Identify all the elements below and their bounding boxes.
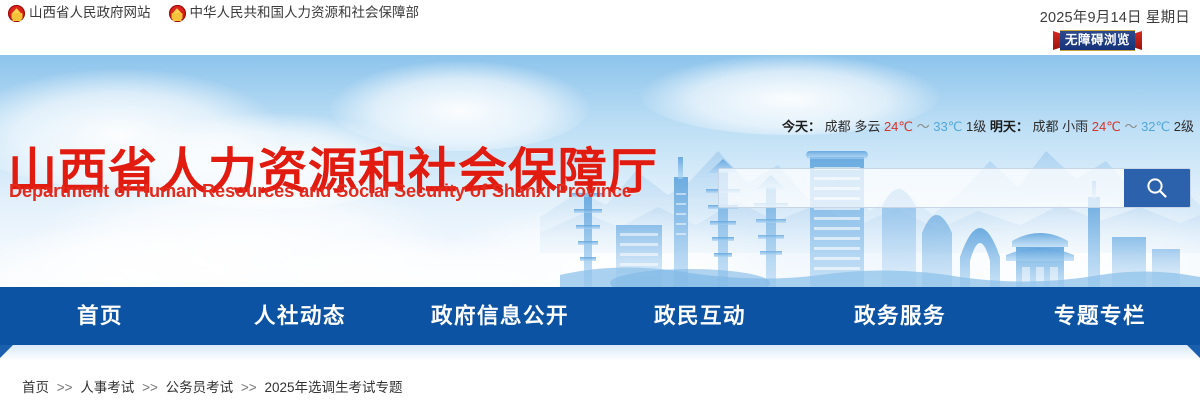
breadcrumb-item-home[interactable]: 首页	[22, 380, 49, 395]
weather-today-low: 24℃	[884, 119, 913, 134]
top-bar: 山西省人民政府网站 中华人民共和国人力资源和社会保障部 2025年9月14日 星…	[0, 0, 1200, 55]
weather-tomorrow-high: 32℃	[1141, 119, 1170, 134]
site-title-english: Department of Human Resources and Social…	[9, 181, 632, 202]
page-root: 山西省人民政府网站 中华人民共和国人力资源和社会保障部 2025年9月14日 星…	[0, 0, 1200, 400]
nav-item-home[interactable]: 首页	[0, 287, 200, 345]
cloud-decoration-icon	[0, 225, 300, 287]
ribbon-left-icon	[1053, 31, 1060, 50]
national-emblem-icon	[169, 5, 186, 22]
weather-today-label: 今天：	[782, 119, 821, 134]
nav-item-gov-services[interactable]: 政务服务	[800, 287, 1000, 345]
site-search[interactable]	[718, 168, 1191, 208]
weather-today-city: 成都	[825, 119, 851, 134]
gov-link-label: 中华人民共和国人力资源和社会保障部	[190, 3, 420, 23]
weather-tomorrow-wind: 2级	[1174, 119, 1194, 134]
breadcrumb-separator: >>	[57, 380, 73, 395]
breadcrumb-separator: >>	[241, 380, 257, 395]
accessibility-browsing-badge[interactable]: 无障碍浏览	[1053, 31, 1142, 50]
breadcrumb-item-civil-servant-exam[interactable]: 公务员考试	[166, 380, 234, 395]
breadcrumb: 首页 >> 人事考试 >> 公务员考试 >> 2025年选调生考试专题	[22, 379, 402, 397]
weather-today-wind: 1级	[966, 119, 986, 134]
weather-tomorrow-condition: 小雨	[1062, 119, 1088, 134]
nav-item-gov-public-interaction[interactable]: 政民互动	[600, 287, 800, 345]
current-date: 2025年9月14日 星期日	[1040, 6, 1190, 27]
weather-tomorrow-label: 明天：	[990, 119, 1029, 134]
search-input[interactable]	[719, 169, 1124, 207]
main-navigation: 首页 人社动态 政府信息公开 政民互动 政务服务 专题专栏	[0, 287, 1200, 345]
gov-link-label: 山西省人民政府网站	[29, 3, 151, 23]
gov-links: 山西省人民政府网站 中华人民共和国人力资源和社会保障部	[8, 3, 419, 23]
ribbon-right-icon	[1135, 31, 1142, 50]
gov-link-shanxi-province[interactable]: 山西省人民政府网站	[8, 3, 151, 23]
nav-item-gov-info-disclosure[interactable]: 政府信息公开	[400, 287, 600, 345]
weather-strip: 今天： 成都 多云 24℃ ～ 33℃ 1级 明天： 成都 小雨 24℃ ～ 3…	[782, 118, 1194, 136]
accessibility-badge-label: 无障碍浏览	[1060, 30, 1135, 51]
cloud-decoration-icon	[250, 235, 550, 287]
weather-today-condition: 多云	[854, 119, 880, 134]
breadcrumb-item-personnel-exam[interactable]: 人事考试	[80, 380, 134, 395]
gov-link-mohrss[interactable]: 中华人民共和国人力资源和社会保障部	[169, 3, 420, 23]
search-icon	[1144, 175, 1170, 201]
breadcrumb-item-current: 2025年选调生考试专题	[264, 380, 402, 395]
site-banner: 山西省人力资源和社会保障厅 Department of Human Resour…	[0, 55, 1200, 287]
breadcrumb-separator: >>	[142, 380, 158, 395]
weather-tomorrow-low: 24℃	[1092, 119, 1121, 134]
weather-today-range-separator: ～	[917, 119, 930, 134]
weather-tomorrow-city: 成都	[1032, 119, 1058, 134]
search-button[interactable]	[1124, 169, 1190, 207]
nav-underline-band	[0, 345, 1200, 361]
national-emblem-icon	[8, 5, 25, 22]
nav-item-special-topics[interactable]: 专题专栏	[1000, 287, 1200, 345]
nav-item-hr-news[interactable]: 人社动态	[200, 287, 400, 345]
weather-tomorrow-range-separator: ～	[1124, 119, 1137, 134]
weather-today-high: 33℃	[933, 119, 962, 134]
